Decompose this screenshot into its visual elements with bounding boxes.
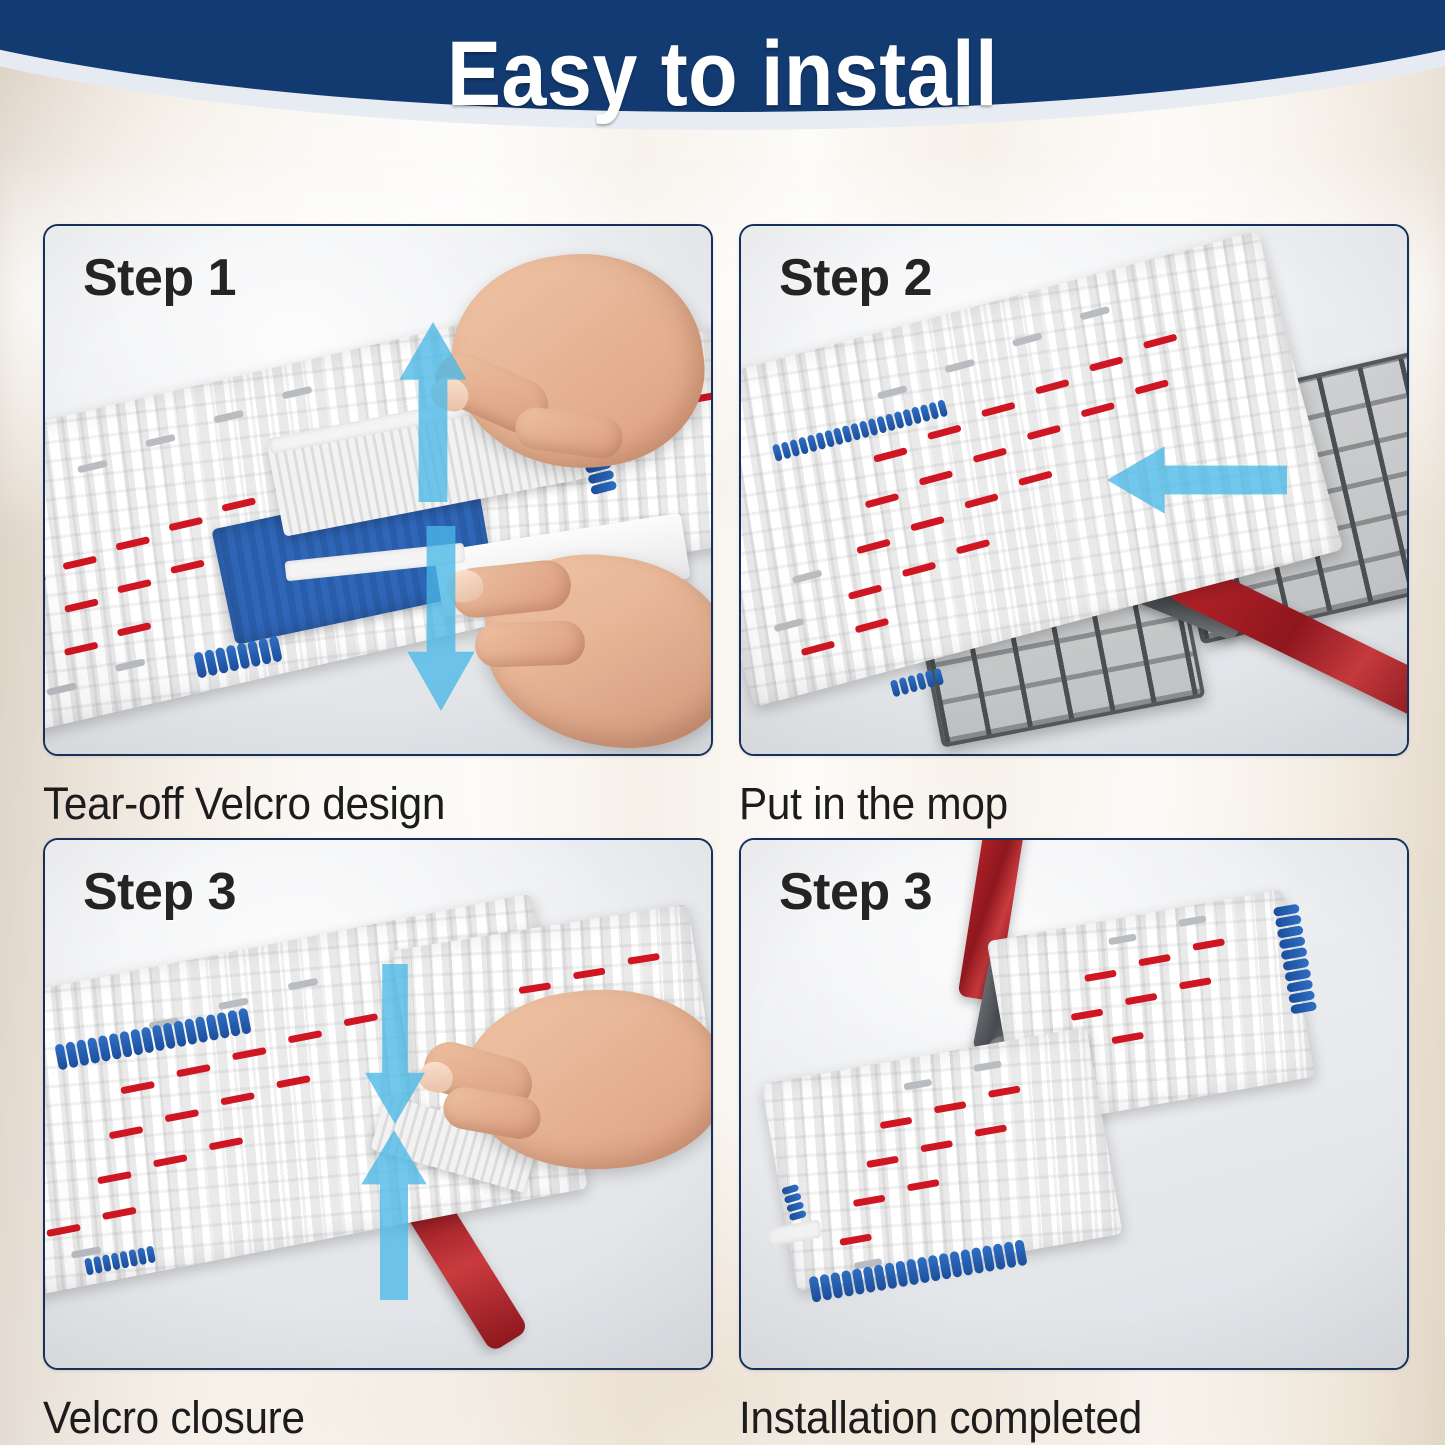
step-label-2: Step 2 <box>779 248 932 308</box>
step-image-panel-2: Step 2 <box>739 224 1409 756</box>
arrow-up-icon <box>397 322 469 502</box>
infographic-stage: Easy to install <box>0 0 1445 1445</box>
step-image-panel-4: Step 3 <box>739 838 1409 1370</box>
page-title: Easy to install <box>87 28 1359 120</box>
step-card-1: Step 1 Tear-off Velcro design <box>43 224 709 830</box>
step-caption-1: Tear-off Velcro design <box>43 778 669 830</box>
arrow-down-icon <box>363 964 427 1124</box>
header-banner: Easy to install <box>0 0 1445 230</box>
finger-second-lower <box>474 620 585 668</box>
step-card-4: Step 3 Installation completed <box>739 838 1405 1444</box>
step-image-panel-1: Step 1 <box>43 224 713 756</box>
arrow-down-icon <box>405 526 477 711</box>
step-card-3: Step 3 Velcro closure <box>43 838 709 1444</box>
arrow-up-icon <box>359 1130 429 1300</box>
step-card-2: Step 2 Put in the mop <box>739 224 1405 830</box>
step-caption-3: Velcro closure <box>43 1392 669 1444</box>
step-label-1: Step 1 <box>83 248 236 308</box>
step-caption-2: Put in the mop <box>739 778 1365 830</box>
arrow-left-icon <box>1107 444 1287 516</box>
step-caption-4: Installation completed <box>739 1392 1365 1444</box>
step-label-3: Step 3 <box>83 862 236 922</box>
step-image-panel-3: Step 3 <box>43 838 713 1370</box>
steps-grid: Step 1 Tear-off Velcro design <box>43 224 1405 1399</box>
step-label-4: Step 3 <box>779 862 932 922</box>
